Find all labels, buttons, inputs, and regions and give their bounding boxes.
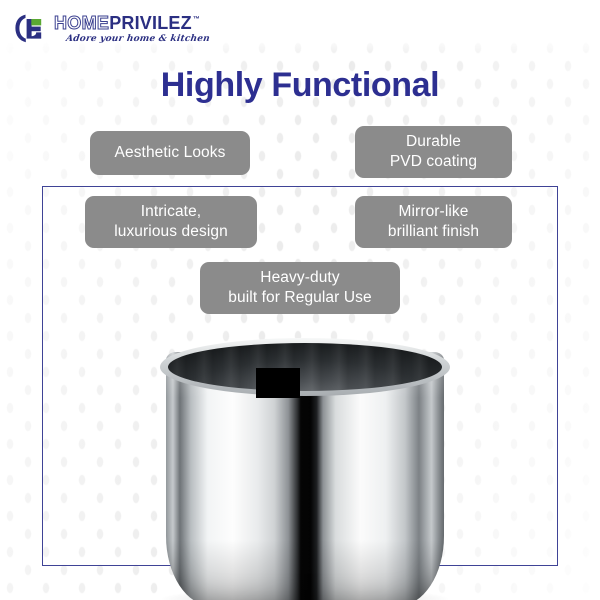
product-image-steel-tumbler bbox=[160, 338, 450, 600]
feature-pill-mirror-like-brilliant-finish: Mirror-like brilliant finish bbox=[355, 196, 512, 248]
trademark-symbol: ™ bbox=[193, 16, 200, 23]
feature-pill-heavy-duty-regular-use: Heavy-duty built for Regular Use bbox=[200, 262, 400, 314]
feature-pill-line: luxurious design bbox=[114, 222, 228, 242]
tumbler-rim bbox=[160, 338, 450, 396]
feature-pill-line: Intricate, bbox=[114, 202, 228, 222]
feature-pill-line: brilliant finish bbox=[388, 222, 479, 242]
homeprivilez-monogram-icon bbox=[14, 12, 48, 46]
page-title: Highly Functional bbox=[0, 66, 600, 105]
brand-logo[interactable]: HOME PRIVILEZ ™ Adore your home & kitche… bbox=[14, 12, 210, 46]
feature-pill-line: Heavy-duty bbox=[228, 268, 371, 288]
feature-pill-line: built for Regular Use bbox=[228, 288, 371, 308]
feature-pill-line: Durable bbox=[390, 132, 477, 152]
tumbler-center-reflection bbox=[256, 368, 300, 398]
feature-pill-line: PVD coating bbox=[390, 152, 477, 172]
feature-pill-line: Mirror-like bbox=[388, 202, 479, 222]
logo-text-block: HOME PRIVILEZ ™ Adore your home & kitche… bbox=[54, 14, 210, 44]
feature-pill-intricate-luxurious-design: Intricate, luxurious design bbox=[85, 196, 257, 248]
tumbler-interior bbox=[168, 343, 442, 391]
logo-wordmark: HOME PRIVILEZ ™ bbox=[54, 14, 210, 32]
logo-word-home: HOME bbox=[54, 14, 109, 32]
logo-word-privilez: PRIVILEZ bbox=[109, 14, 192, 32]
logo-tagline: Adore your home & kitchen bbox=[65, 34, 210, 44]
feature-pill-durable-pvd-coating: Durable PVD coating bbox=[355, 126, 512, 178]
product-feature-banner: HOME PRIVILEZ ™ Adore your home & kitche… bbox=[0, 0, 600, 600]
feature-pill-aesthetic-looks: Aesthetic Looks bbox=[90, 131, 250, 175]
feature-pill-line: Aesthetic Looks bbox=[115, 143, 226, 163]
